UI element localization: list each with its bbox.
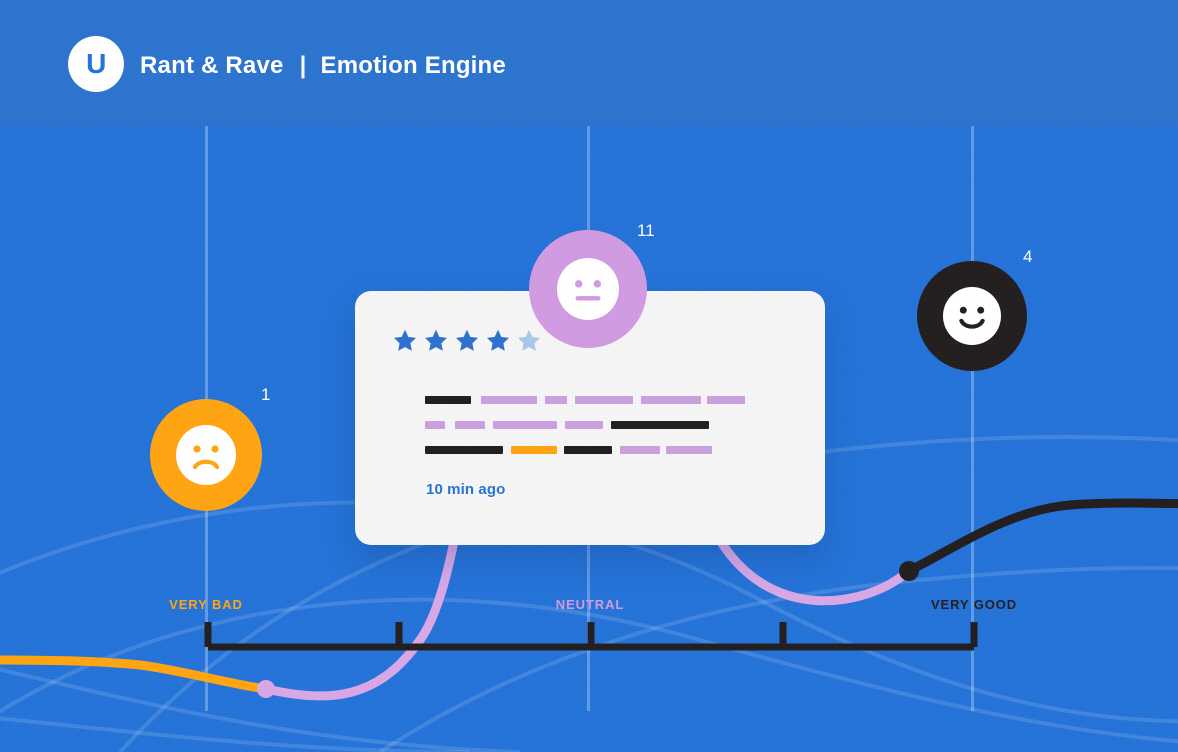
redacted-gap (603, 421, 611, 429)
redacted-bar (620, 446, 660, 454)
star-filled-icon (424, 329, 448, 352)
redacted-gap (445, 421, 455, 429)
bubble-count-neutral: 11 (637, 221, 655, 241)
redacted-bar (666, 446, 712, 454)
redacted-line (425, 446, 745, 454)
redacted-line (425, 396, 745, 404)
redacted-line (425, 421, 745, 429)
redacted-bar (425, 396, 471, 404)
redacted-gap (567, 396, 575, 404)
redacted-gap (633, 396, 641, 404)
emotion-bubble-very-bad[interactable] (150, 399, 262, 511)
emotion-engine-visualization: VERY BAD NEUTRAL VERY GOOD 1 11 4 (0, 0, 1178, 752)
redacted-bar (425, 446, 503, 454)
brand-title: Rant & Rave | Emotion Engine (140, 52, 506, 80)
curve-very-good (909, 503, 1178, 571)
redacted-bar (425, 421, 445, 429)
emotion-bubble-very-good[interactable] (917, 261, 1027, 371)
redacted-bar (564, 446, 612, 454)
redacted-bar (455, 421, 485, 429)
happy-face-icon (943, 287, 1001, 345)
redacted-bar (565, 421, 603, 429)
star-empty-icon (517, 329, 541, 352)
emotion-bubble-neutral[interactable] (529, 230, 647, 348)
app-header: U Rant & Rave | Emotion Engine (0, 0, 1178, 126)
bubble-count-very-bad: 1 (261, 385, 270, 405)
redacted-gap (557, 421, 565, 429)
curve-very-bad (0, 660, 266, 689)
u-circle-logo-icon[interactable]: U (68, 36, 124, 92)
star-filled-icon (393, 329, 417, 352)
bubble-count-very-good: 4 (1023, 247, 1032, 267)
redacted-bar (707, 396, 745, 404)
redacted-gap (503, 446, 511, 454)
redacted-bar (575, 396, 633, 404)
redacted-bar (493, 421, 557, 429)
redacted-bar (545, 396, 567, 404)
product-name: Emotion Engine (321, 52, 506, 80)
redacted-gap (471, 396, 481, 404)
star-filled-icon (486, 329, 510, 352)
logo-letter: U (86, 50, 106, 78)
redacted-review-text (425, 396, 745, 471)
redacted-bar (481, 396, 537, 404)
redacted-gap (612, 446, 620, 454)
sentiment-axis (195, 612, 987, 654)
axis-label-very-good: VERY GOOD (931, 597, 1017, 612)
axis-label-neutral: NEUTRAL (556, 597, 624, 612)
star-filled-icon (455, 329, 479, 352)
redacted-gap (485, 421, 493, 429)
redacted-bar (611, 421, 709, 429)
brand-name: Rant & Rave (140, 52, 284, 80)
redacted-gap (537, 396, 545, 404)
review-timestamp: 10 min ago (426, 481, 505, 498)
neutral-face-icon (557, 258, 619, 320)
brand-separator: | (300, 52, 307, 80)
axis-label-very-bad: VERY BAD (169, 597, 243, 612)
star-rating (393, 329, 541, 352)
datapoint-neutral-very-good (899, 561, 919, 581)
redacted-gap (557, 446, 564, 454)
sad-face-icon (176, 425, 236, 485)
redacted-bar (641, 396, 701, 404)
datapoint-very-bad-neutral (257, 680, 275, 698)
redacted-bar (511, 446, 557, 454)
